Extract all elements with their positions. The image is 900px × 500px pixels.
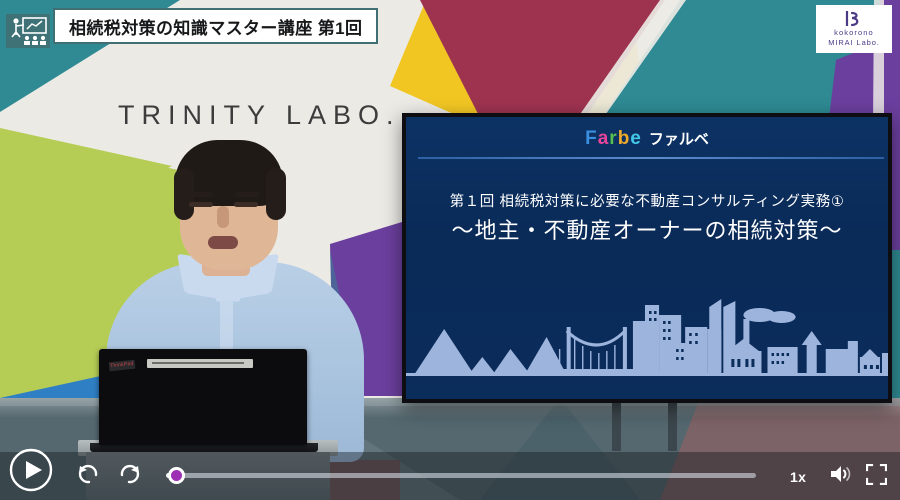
slide: Farbeファルベ 第１回 相続税対策に必要な不動産コンサルティング実務① 〜地… [406, 117, 888, 399]
thinkpad-logo: ThinkPad [109, 360, 136, 372]
slide-divider [418, 157, 884, 159]
city-skyline-icon [406, 271, 888, 383]
laptop: ThinkPad [99, 349, 307, 445]
monitor-stand-right [668, 403, 677, 451]
presenter-brow-right [235, 192, 260, 197]
player-controls: 1x [0, 452, 900, 500]
presenter-hair-right [266, 168, 286, 220]
farbe-letter-f: F [585, 127, 598, 151]
play-button[interactable] [9, 448, 53, 492]
presenter-mouth [208, 236, 238, 249]
brand-logo: kokorono MIRAI Labo. [816, 5, 892, 53]
farbe-letter-e: e [630, 127, 642, 151]
farbe-letter-b: b [618, 127, 631, 151]
slide-subtitle: 第１回 相続税対策に必要な不動産コンサルティング実務① [406, 190, 888, 211]
lecture-title-banner: 相続税対策の知識マスター講座 第1回 [53, 8, 378, 44]
laptop-label-sticker [147, 359, 253, 368]
video-player: TRINITY LABO. [0, 0, 900, 500]
video-frame: TRINITY LABO. [0, 0, 900, 500]
progress-scrubber[interactable] [168, 467, 185, 484]
monitor-stand-left [612, 403, 621, 451]
kokorono-k-mark-icon [843, 10, 865, 27]
fullscreen-icon[interactable] [866, 464, 887, 485]
volume-icon[interactable] [828, 462, 852, 486]
presenter-eye-right [234, 202, 258, 207]
presentation-monitor: Farbeファルベ 第１回 相続税対策に必要な不動産コンサルティング実務① 〜地… [402, 113, 892, 403]
wall-logo: TRINITY LABO. [118, 100, 401, 131]
brand-line2: MIRAI Labo. [828, 38, 880, 48]
lecture-title: 相続税対策の知識マスター講座 第1回 [69, 14, 362, 39]
progress-bar[interactable] [166, 473, 756, 478]
presenter-nose [217, 206, 229, 228]
rewind-button[interactable] [76, 460, 102, 486]
brand-line1: kokorono [834, 27, 874, 38]
forward-button[interactable] [116, 460, 142, 486]
presenter-eye-left [189, 202, 213, 207]
playback-speed-button[interactable]: 1x [790, 469, 806, 485]
slide-title: 〜地主・不動産オーナーの相続対策〜 [406, 213, 888, 245]
farbe-letter-a: a [598, 127, 610, 151]
presenter-brow-left [188, 192, 213, 197]
farbe-kana: ファルベ [649, 128, 709, 152]
lecturer-whiteboard-icon [6, 14, 50, 48]
farbe-logo: Farbeファルベ [406, 127, 888, 152]
farbe-letter-r: r [609, 127, 617, 151]
wall-logo-text: TRINITY LABO. [118, 100, 401, 130]
